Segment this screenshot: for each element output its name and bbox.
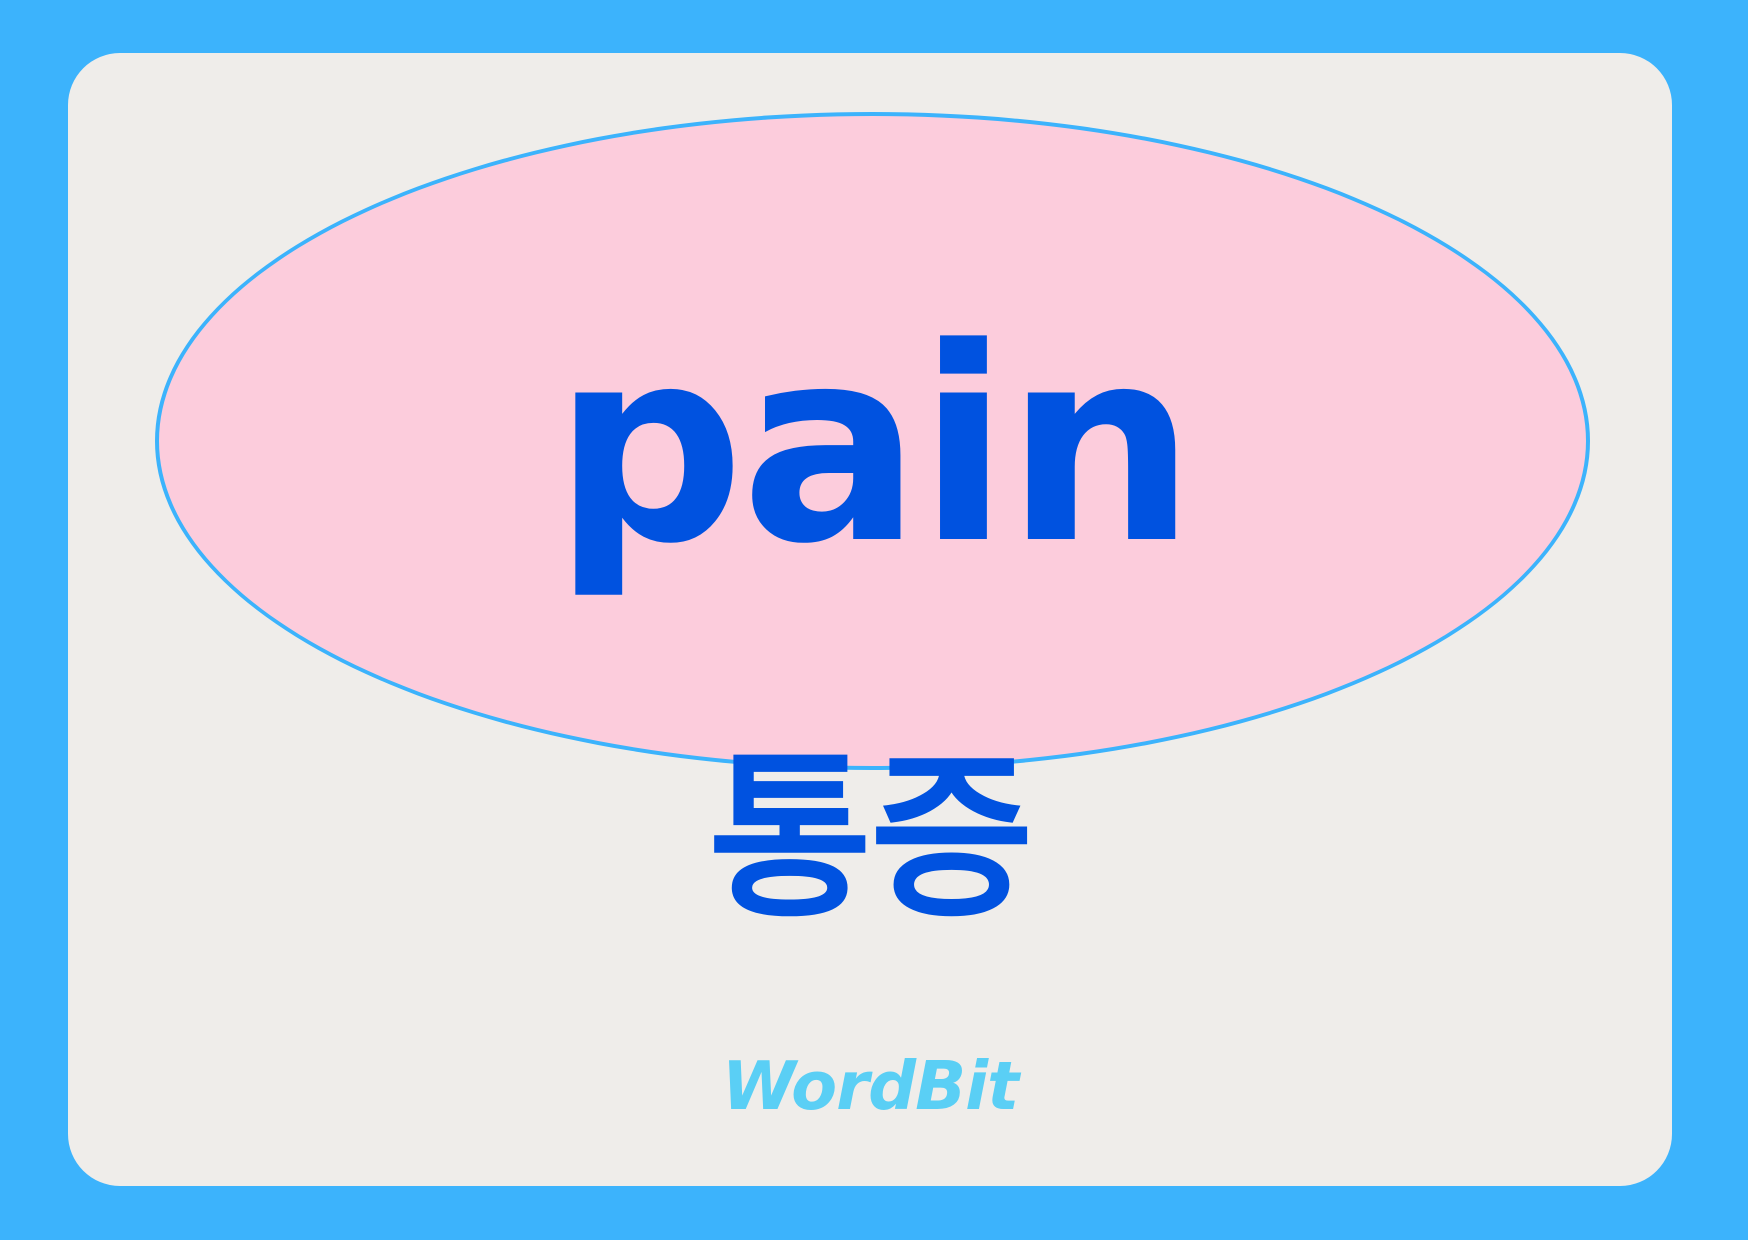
app-brand-logo: WordBit [68,1053,1672,1120]
term-ellipse-highlight: pain [155,112,1590,770]
term-container: pain [159,116,1586,766]
flashcard-screen: pain 통증 WordBit [0,0,1748,1240]
flashcard-panel[interactable]: pain 통증 WordBit [68,53,1672,1186]
vocabulary-term: pain [553,313,1192,581]
vocabulary-translation: 통증 [68,743,1672,935]
